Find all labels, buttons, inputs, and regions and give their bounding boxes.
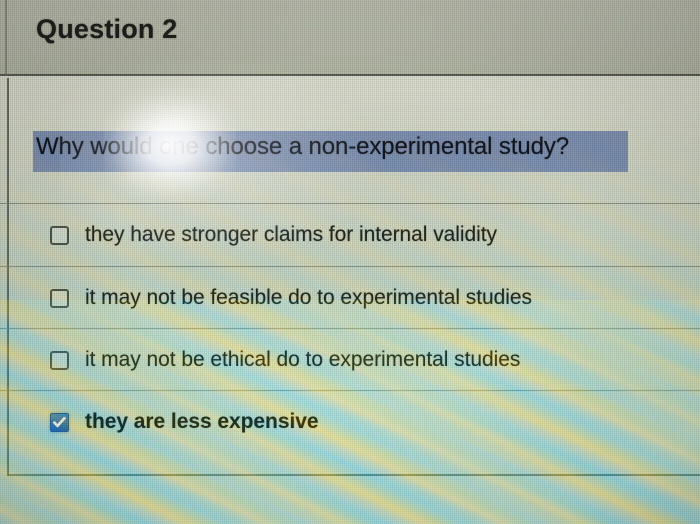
page-frame-bottom xyxy=(8,474,700,476)
option-row-2[interactable]: it may not be feasible do to experimenta… xyxy=(0,267,700,329)
question-screenshot: Question 2 Why would one choose a non-ex… xyxy=(0,0,700,524)
checkbox-checked-icon[interactable] xyxy=(50,413,69,432)
page-title: Question 2 xyxy=(36,14,178,45)
option-row-4[interactable]: they are less expensive xyxy=(0,391,700,453)
option-label-3: it may not be ethical do to experimental… xyxy=(85,348,520,372)
option-row-1[interactable]: they have stronger claims for internal v… xyxy=(0,204,700,266)
option-label-4: they are less expensive xyxy=(85,410,319,434)
checkbox-empty-icon[interactable] xyxy=(50,289,69,308)
checkbox-empty-icon[interactable] xyxy=(50,226,69,245)
checkbox-empty-icon[interactable] xyxy=(50,351,69,370)
page-frame-left-header xyxy=(5,0,7,76)
option-row-3[interactable]: it may not be ethical do to experimental… xyxy=(0,329,700,391)
option-label-1: they have stronger claims for internal v… xyxy=(85,223,497,247)
option-label-2: it may not be feasible do to experimenta… xyxy=(85,286,532,310)
question-stem: Why would one choose a non-experimental … xyxy=(36,133,636,161)
checkmark-glyph xyxy=(53,416,66,429)
header-divider xyxy=(0,74,700,76)
